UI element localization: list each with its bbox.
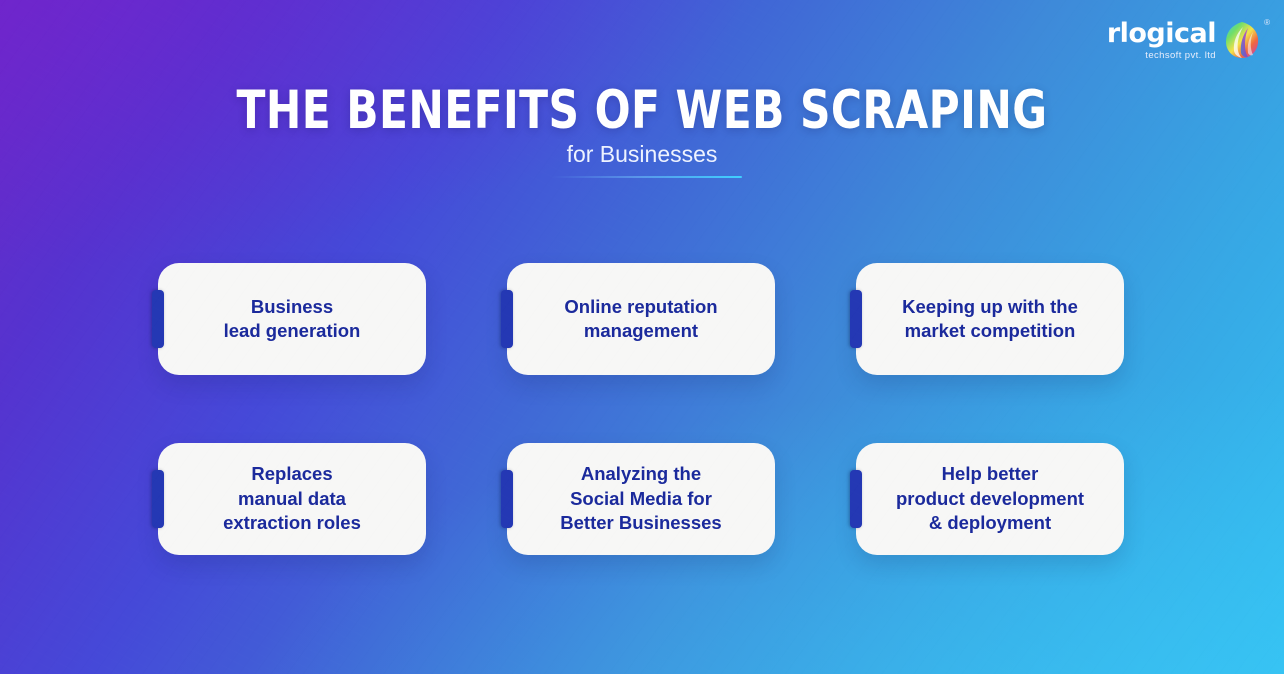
card-accent-tab	[501, 470, 513, 528]
registered-trademark-icon: ®	[1264, 18, 1270, 27]
brand-name: rlogical	[1107, 20, 1216, 47]
card-accent-tab	[152, 470, 164, 528]
page-subtitle: for Businesses	[0, 143, 1284, 166]
benefit-card-market-competition[interactable]: Keeping up with the market competition	[856, 263, 1124, 375]
page-title: THE BENEFITS OF WEB SCRAPING	[128, 84, 1155, 137]
card-accent-tab	[152, 290, 164, 348]
benefit-card-label: Replaces manual data extraction roles	[223, 462, 361, 535]
infographic-poster: rlogical techsoft pvt. ltd	[0, 0, 1284, 674]
brand-logo[interactable]: rlogical techsoft pvt. ltd	[1107, 20, 1262, 61]
benefit-card-analyzing-social-media[interactable]: Analyzing the Social Media for Better Bu…	[507, 443, 775, 555]
benefits-grid: Business lead generation Online reputati…	[158, 263, 1126, 555]
benefit-card-replaces-manual-data-extraction[interactable]: Replaces manual data extraction roles	[158, 443, 426, 555]
benefit-card-label: Analyzing the Social Media for Better Bu…	[560, 462, 721, 535]
card-accent-tab	[850, 290, 862, 348]
benefit-card-label: Business lead generation	[224, 295, 361, 344]
benefit-card-label: Online reputation management	[564, 295, 717, 344]
card-accent-tab	[501, 290, 513, 348]
benefit-card-business-lead-generation[interactable]: Business lead generation	[158, 263, 426, 375]
benefit-card-label: Help better product development & deploy…	[896, 462, 1084, 535]
benefit-card-online-reputation-management[interactable]: Online reputation management	[507, 263, 775, 375]
benefit-card-product-development-deployment[interactable]: Help better product development & deploy…	[856, 443, 1124, 555]
benefit-card-label: Keeping up with the market competition	[902, 295, 1078, 344]
card-accent-tab	[850, 470, 862, 528]
brand-tagline: techsoft pvt. ltd	[1145, 51, 1216, 61]
rainbow-leaf-icon: ®	[1222, 20, 1262, 60]
subtitle-underline	[552, 176, 742, 178]
brand-logo-wordmark: rlogical techsoft pvt. ltd	[1107, 20, 1216, 61]
